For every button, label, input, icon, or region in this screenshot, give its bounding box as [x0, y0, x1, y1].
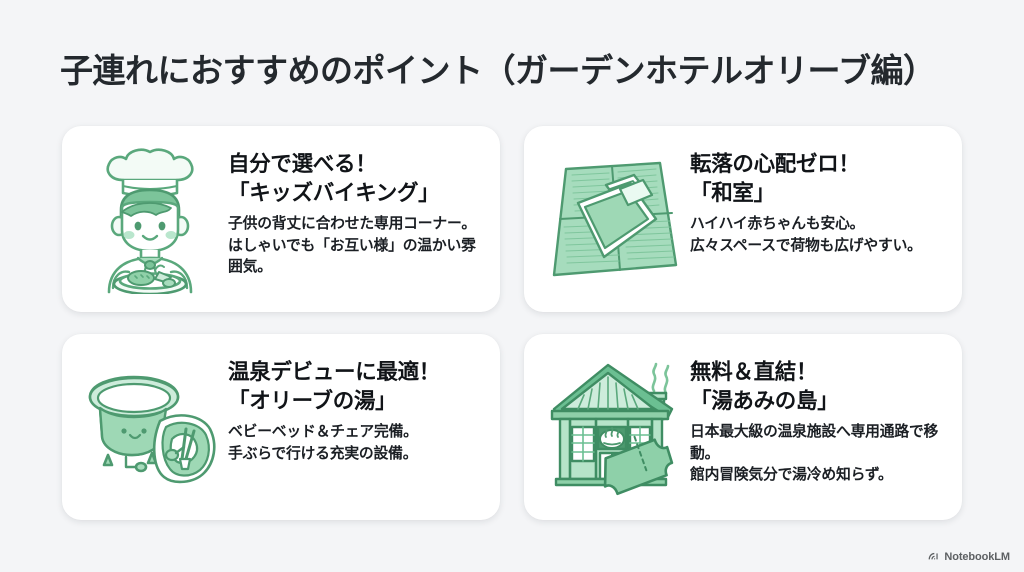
card-body: 転落の心配ゼロ！ 「和室」 ハイハイ赤ちゃんも安心。 広々スペースで荷物も広げや… [690, 142, 944, 257]
card-text: 子供の背丈に合わせた専用コーナー。はしゃいでも「お互い様」の温かい雰囲気。 [228, 214, 482, 278]
card-heading: 転落の心配ゼロ！ 「和室」 [690, 150, 944, 208]
bathtub-baby-chair-icon [82, 350, 222, 505]
card-text: ベビーベッド＆チェア完備。 手ぶらで行ける充実の設備。 [228, 422, 482, 465]
feature-card-japanese-room[interactable]: 転落の心配ゼロ！ 「和室」 ハイハイ赤ちゃんも安心。 広々スペースで荷物も広げや… [524, 126, 962, 312]
card-heading: 無料＆直結！ 「湯あみの島」 [690, 358, 944, 416]
notebooklm-label: NotebookLM [944, 551, 1010, 563]
card-text: ハイハイ赤ちゃんも安心。 広々スペースで荷物も広げやすい。 [690, 214, 944, 257]
page-title: 子連れにおすすめのポイント（ガーデンホテルオリーブ編） [60, 44, 980, 92]
notebooklm-logo-icon [927, 550, 940, 563]
card-body: 温泉デビューに最適！ 「オリーブの湯」 ベビーベッド＆チェア完備。 手ぶらで行け… [228, 350, 482, 465]
feature-card-olive-bath[interactable]: 温泉デビューに最適！ 「オリーブの湯」 ベビーベッド＆チェア完備。 手ぶらで行け… [62, 334, 500, 520]
card-body: 無料＆直結！ 「湯あみの島」 日本最大級の温泉施設へ専用通路で移動。 館内冒険気… [690, 350, 944, 487]
notebooklm-watermark: NotebookLM [927, 550, 1010, 563]
card-heading: 自分で選べる！ 「キッズバイキング」 [228, 150, 482, 208]
card-body: 自分で選べる！ 「キッズバイキング」 子供の背丈に合わせた専用コーナー。はしゃい… [228, 142, 482, 279]
onsen-building-ticket-icon [544, 350, 684, 505]
card-heading: 温泉デビューに最適！ 「オリーブの湯」 [228, 358, 482, 416]
feature-card-kids-buffet[interactable]: 自分で選べる！ 「キッズバイキング」 子供の背丈に合わせた専用コーナー。はしゃい… [62, 126, 500, 312]
card-text: 日本最大級の温泉施設へ専用通路で移動。 館内冒険気分で湯冷め知らず。 [690, 422, 944, 486]
feature-card-grid: 自分で選べる！ 「キッズバイキング」 子供の背丈に合わせた専用コーナー。はしゃい… [62, 126, 962, 520]
chef-child-icon [82, 142, 222, 297]
feature-card-yuami-no-shima[interactable]: 無料＆直結！ 「湯あみの島」 日本最大級の温泉施設へ専用通路で移動。 館内冒険気… [524, 334, 962, 520]
futon-tatami-icon [544, 142, 684, 297]
